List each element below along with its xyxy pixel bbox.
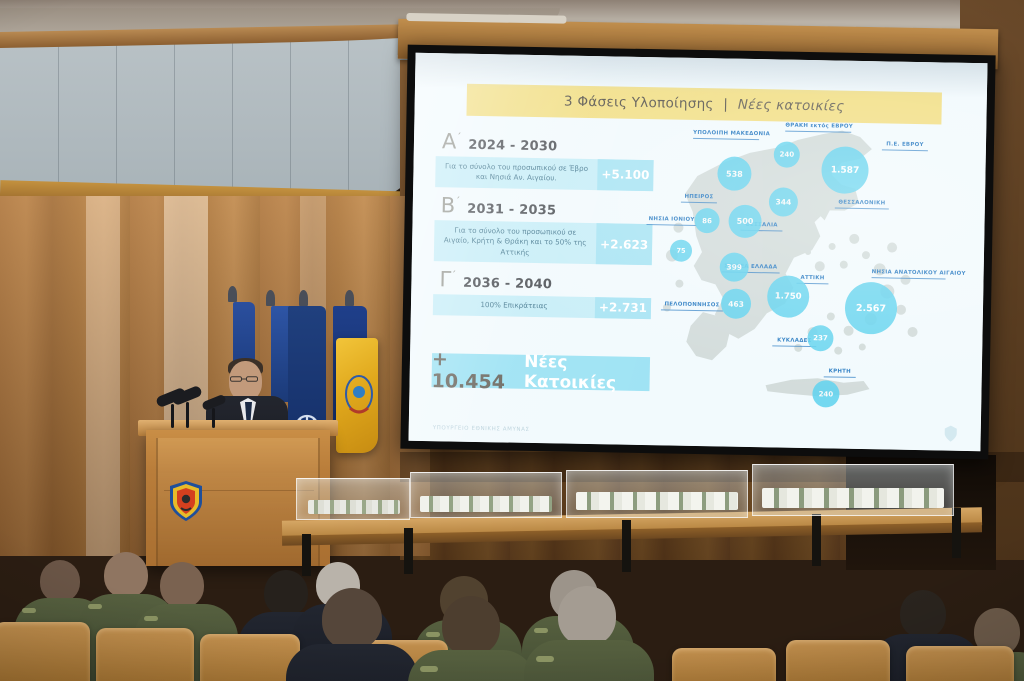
army-crest-emblem-icon	[168, 480, 204, 522]
map-region-label: ΘΕΣΣΑΛΟΝΙΚΗ	[835, 200, 889, 208]
phase-body: Για το σύνολο του προσωπικού σε Έβρο και…	[435, 156, 654, 191]
slide-title-sub: Νέες κατοικίες	[738, 97, 845, 115]
phase-letter: Α´	[442, 129, 462, 153]
phase-item: Γ´2036 - 2040100% Επικράτειας+2.731	[433, 267, 652, 318]
map-region-label: ΠΕΛΟΠΟΝΝΗΣΟΣ	[661, 301, 723, 309]
chair[interactable]	[96, 628, 194, 681]
phase-body: Για το σύνολο του προσωπικού σε Αιγαίο, …	[434, 220, 653, 265]
phase-header: Β´2031 - 2035	[435, 193, 653, 221]
greece-bubble-map: ΥΠΟΛΟΙΠΗ ΜΑΚΕΔΟΝΙΑΘΡΑΚΗ εκτός ΕΒΡΟΥΠ.Ε. …	[641, 115, 976, 421]
presentation-slide: 3 Φάσεις Υλοποίησης | Νέες κατοικίες Α´2…	[408, 53, 987, 451]
map-region-label: ΚΡΗΤΗ	[824, 368, 856, 375]
total-number: + 10.454	[431, 348, 517, 394]
slide-title-separator: |	[723, 96, 728, 112]
map-region-label: ΗΠΕΙΡΟΣ	[681, 194, 717, 201]
phase-letter: Β´	[441, 193, 461, 217]
phase-description: 100% Επικράτειας	[433, 294, 595, 317]
phase-letter: Γ´	[439, 267, 456, 291]
chair[interactable]	[672, 648, 776, 681]
auditorium-scene: 3 Φάσεις Υλοποίησης | Νέες κατοικίες Α´2…	[0, 0, 1024, 681]
architectural-model	[420, 496, 552, 512]
slide-title-main: 3 Φάσεις Υλοποίησης	[564, 94, 714, 113]
phase-item: Α´2024 - 2030Για το σύνολο του προσωπικο…	[435, 129, 654, 191]
microphone-stand	[212, 408, 215, 428]
banner-crest-icon	[344, 372, 374, 418]
architectural-model	[308, 500, 400, 514]
projection-screen: 3 Φάσεις Υλοποίησης | Νέες κατοικίες Α´2…	[400, 45, 995, 460]
table-leg	[812, 514, 821, 566]
slide-title: 3 Φάσεις Υλοποίησης | Νέες κατοικίες	[564, 94, 845, 115]
map-region-label: ΥΠΟΛΟΙΠΗ ΜΑΚΕΔΟΝΙΑ	[693, 130, 759, 138]
architectural-model	[762, 488, 944, 508]
chair[interactable]	[0, 622, 90, 681]
map-region-label: ΝΗΣΙΑ ΑΝΑΤΟΛΙΚΟΥ ΑΙΓΑΙΟΥ	[872, 269, 946, 277]
map-region-label: ΝΗΣΙΑ ΙΟΝΙΟΥ	[647, 216, 697, 224]
map-region-label: ΘΡΑΚΗ εκτός ΕΒΡΟΥ	[785, 123, 851, 131]
table-leg	[302, 534, 311, 576]
chair[interactable]	[906, 646, 1014, 681]
phase-description: Για το σύνολο του προσωπικού σε Αιγαίο, …	[434, 220, 597, 264]
phase-description: Για το σύνολο του προσωπικού σε Έβρο και…	[435, 156, 598, 190]
total-summary-bar: + 10.454 Νέες Κατοικίες	[431, 353, 650, 391]
phase-item: Β´2031 - 2035Για το σύνολο του προσωπικο…	[434, 193, 653, 265]
speaker-glasses-icon	[230, 376, 258, 382]
table-leg	[622, 520, 631, 572]
microphone-stand	[171, 404, 174, 428]
phase-years: 2036 - 2040	[463, 276, 552, 293]
total-label: Νέες Κατοικίες	[524, 352, 650, 394]
microphone-stand	[186, 402, 189, 428]
phase-years: 2031 - 2035	[467, 202, 556, 219]
table-leg	[404, 528, 413, 574]
chair[interactable]	[786, 640, 890, 681]
phase-header: Α´2024 - 2030	[436, 129, 654, 157]
greece-map-shape	[641, 115, 976, 421]
phase-list: Α´2024 - 2030Για το σύνολο του προσωπικο…	[433, 129, 654, 325]
ministry-emblem-icon	[943, 425, 959, 443]
chair[interactable]	[200, 634, 300, 681]
map-region-label: Π.Ε. ΕΒΡΟΥ	[882, 141, 928, 149]
architectural-model	[576, 492, 738, 510]
phase-years: 2024 - 2030	[468, 138, 557, 155]
slide-footer-text: ΥΠΟΥΡΓΕΙΟ ΕΘΝΙΚΗΣ ΑΜΥΝΑΣ	[433, 425, 530, 433]
phase-body: 100% Επικράτειας+2.731	[433, 294, 651, 318]
phase-header: Γ´2036 - 2040	[433, 267, 651, 295]
